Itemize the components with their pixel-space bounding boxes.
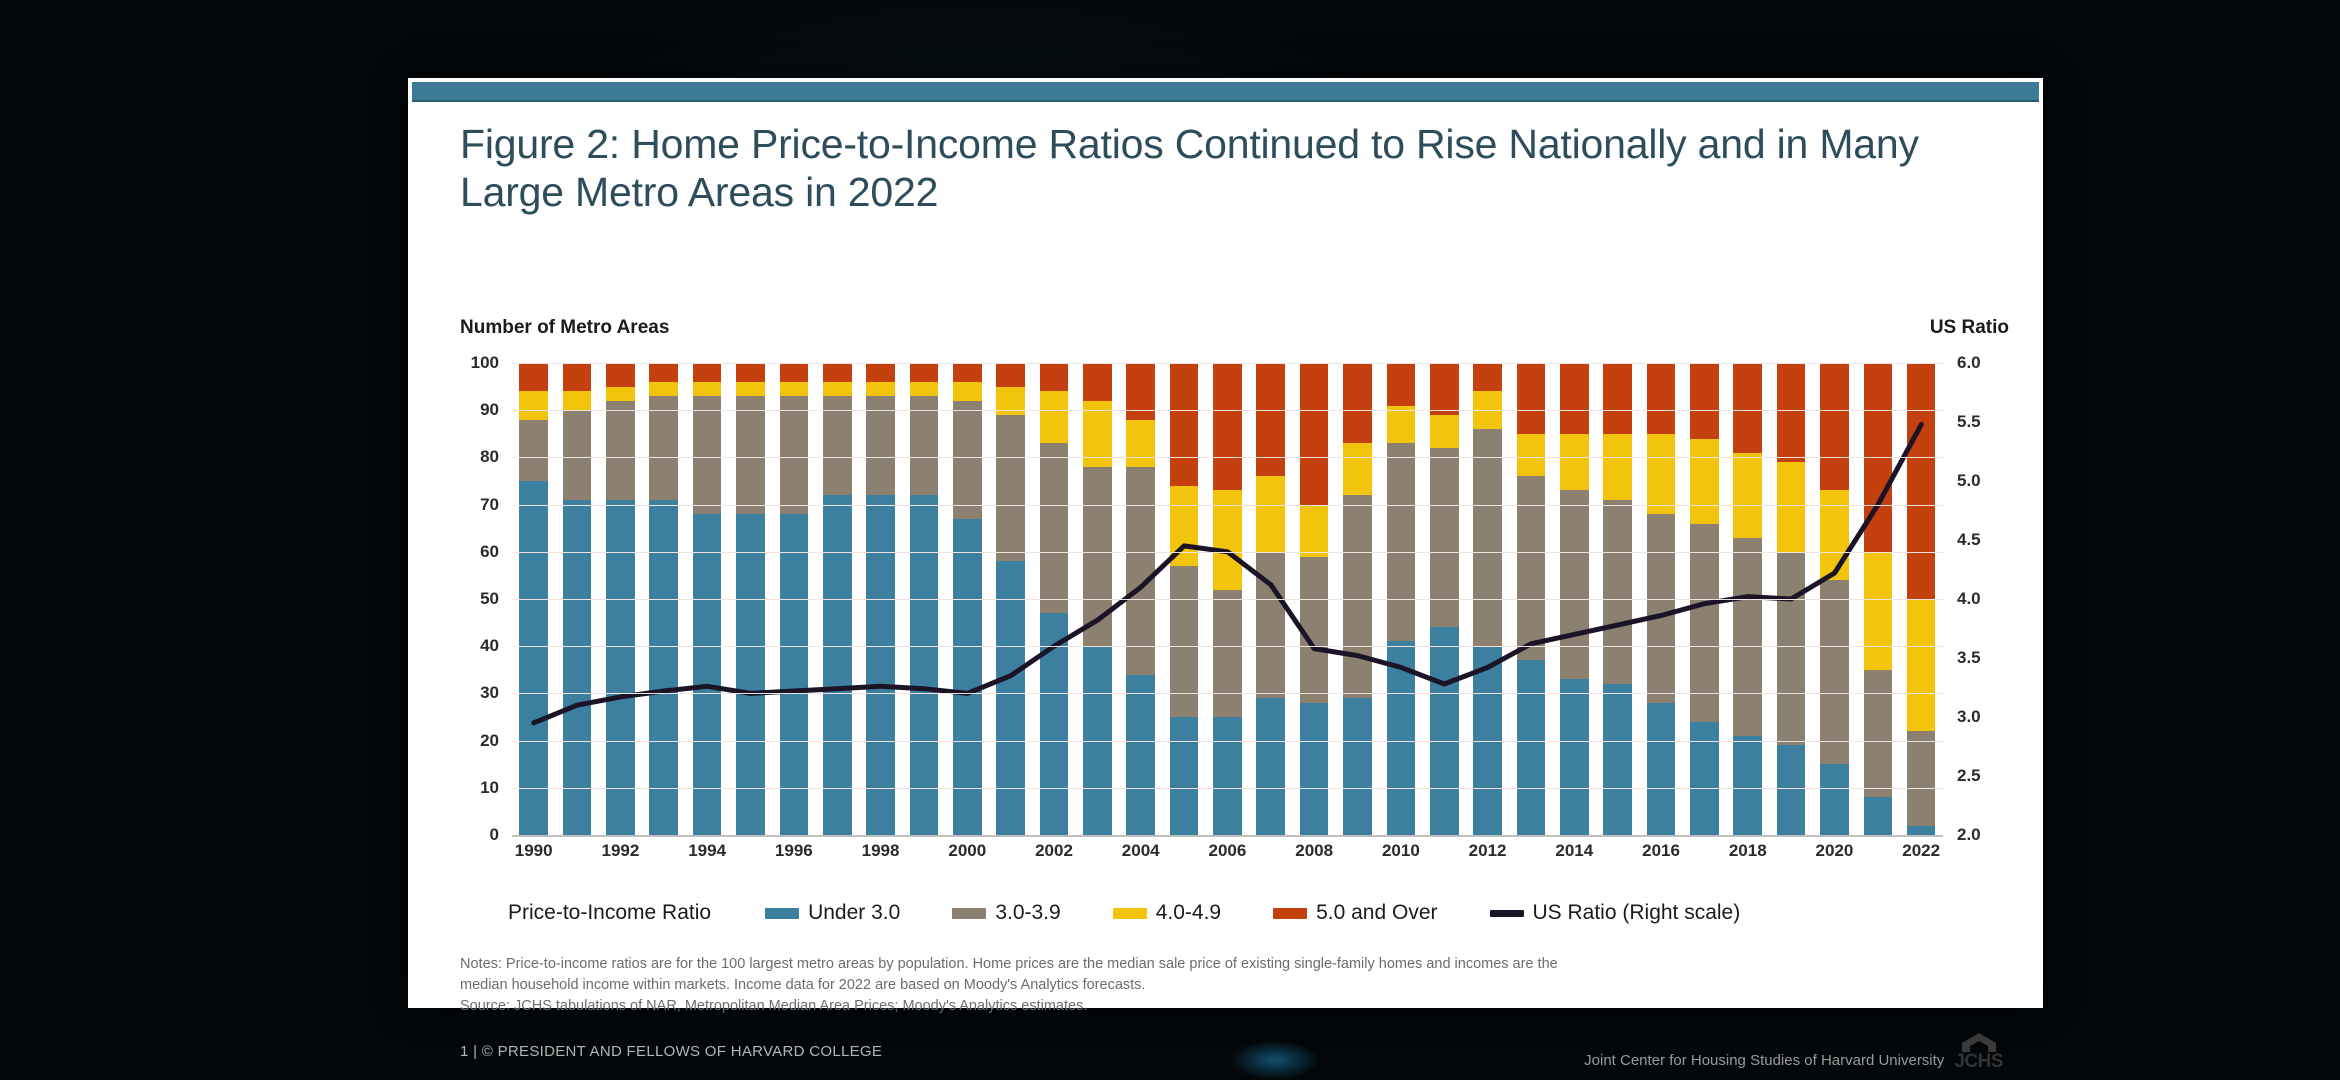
bar-segment-4-0-4-9 [1733,453,1762,538]
legend-title: Price-to-Income Ratio [508,901,711,925]
bar-segment-4-0-4-9 [1777,462,1806,552]
gridline [512,693,1943,694]
y-tick-left-30: 30 [456,683,508,703]
bar-segment-under-3-0 [1256,698,1285,835]
bar-segment-5-0-and-over [1300,363,1329,505]
x-tick-blank [1509,841,1552,871]
bar-segment-3-0-3-9 [1343,495,1372,698]
jchs-logo-icon: JCHS [1954,1032,2003,1071]
y-tick-right-3.0: 3.0 [1945,707,2001,727]
left-axis-title: Number of Metro Areas [460,317,669,339]
x-tick-blank [1683,841,1726,871]
bar-segment-5-0-and-over [823,363,852,382]
chart-legend: Price-to-Income Ratio Under 3.03.0-3.94.… [456,898,2003,928]
y-tick-right-4.5: 4.5 [1945,530,2001,550]
bar-segment-5-0-and-over [1083,363,1112,401]
bar-segment-5-0-and-over [1213,363,1242,490]
x-tick-2012: 2012 [1466,841,1509,871]
legend-color-swatch [952,908,986,919]
bar-segment-4-0-4-9 [780,382,809,396]
bar-segment-5-0-and-over [1473,363,1502,391]
legend-item-under-3-0[interactable]: Under 3.0 [765,901,900,925]
bar-segment-5-0-and-over [866,363,895,382]
bar-segment-3-0-3-9 [1430,448,1459,627]
x-tick-2000: 2000 [946,841,989,871]
bar-segment-under-3-0 [1603,684,1632,835]
gridline [512,552,1943,553]
x-tick-2014: 2014 [1553,841,1596,871]
bar-segment-5-0-and-over [1647,363,1676,434]
bar-segment-4-0-4-9 [1430,415,1459,448]
bar-segment-4-0-4-9 [693,382,722,396]
bar-segment-3-0-3-9 [693,396,722,514]
x-tick-blank [1249,841,1292,871]
bar-segment-4-0-4-9 [563,391,592,410]
bar-segment-5-0-and-over [996,363,1025,387]
x-tick-blank [1423,841,1466,871]
chart-plot-area: 0102030405060708090100 2.02.53.03.54.04.… [456,363,2001,873]
y-axis-left-ticks: 0102030405060708090100 [456,363,508,835]
x-tick-2018: 2018 [1726,841,1769,871]
bar-segment-3-0-3-9 [1473,429,1502,646]
legend-line-swatch [1490,910,1524,917]
bar-segment-3-0-3-9 [1907,731,1936,825]
y-tick-left-50: 50 [456,589,508,609]
gridline [512,410,1943,411]
bar-segment-5-0-and-over [519,363,548,391]
legend-label: 4.0-4.9 [1156,901,1221,925]
slide-footer: 1 | © PRESIDENT AND FELLOWS OF HARVARD C… [460,1033,2003,1069]
gridline [512,741,1943,742]
x-tick-2004: 2004 [1119,841,1162,871]
bar-segment-5-0-and-over [1517,363,1546,434]
bar-segment-3-0-3-9 [953,401,982,519]
x-tick-blank [1162,841,1205,871]
bar-segment-under-3-0 [866,495,895,835]
bar-segment-3-0-3-9 [1126,467,1155,675]
bar-segment-under-3-0 [1170,717,1199,835]
y-tick-right-6.0: 6.0 [1945,353,2001,373]
bar-segment-5-0-and-over [1430,363,1459,415]
gridline [512,599,1943,600]
bar-segment-4-0-4-9 [649,382,678,396]
right-axis-title: US Ratio [1930,317,2009,339]
bar-segment-4-0-4-9 [1343,443,1372,495]
footer-branding: Joint Center for Housing Studies of Harv… [1584,1032,2003,1071]
gridline [512,457,1943,458]
y-tick-left-60: 60 [456,542,508,562]
bar-segment-3-0-3-9 [1733,538,1762,736]
legend-item-4-0-4-9[interactable]: 4.0-4.9 [1113,901,1221,925]
bar-segment-3-0-3-9 [1387,443,1416,641]
bar-segment-4-0-4-9 [1864,552,1893,670]
bar-segment-under-3-0 [1430,627,1459,835]
bar-segment-5-0-and-over [1040,363,1069,391]
bar-segment-4-0-4-9 [736,382,765,396]
bar-segment-3-0-3-9 [649,396,678,500]
y-tick-left-10: 10 [456,778,508,798]
y-tick-right-2.5: 2.5 [1945,766,2001,786]
bar-segment-5-0-and-over [1256,363,1285,476]
bar-segment-under-3-0 [1126,675,1155,835]
legend-color-swatch [1113,908,1147,919]
bar-segment-3-0-3-9 [1864,670,1893,797]
y-tick-right-3.5: 3.5 [1945,648,2001,668]
x-tick-blank [989,841,1032,871]
bar-segment-4-0-4-9 [1647,434,1676,514]
gridline [512,363,1943,364]
bar-segment-4-0-4-9 [1603,434,1632,500]
gridline [512,788,1943,789]
x-tick-2006: 2006 [1206,841,1249,871]
y-tick-right-4.0: 4.0 [1945,589,2001,609]
bar-segment-5-0-and-over [1733,363,1762,453]
bar-segment-4-0-4-9 [1907,599,1936,731]
x-axis-labels: 1990199219941996199820002002200420062008… [512,841,1943,871]
bar-segment-4-0-4-9 [519,391,548,419]
legend-item-us-ratio-right-scale-[interactable]: US Ratio (Right scale) [1490,901,1741,925]
x-tick-blank [729,841,772,871]
y-tick-left-80: 80 [456,447,508,467]
legend-label: 5.0 and Over [1316,901,1437,925]
bar-segment-3-0-3-9 [1300,557,1329,703]
bar-segment-4-0-4-9 [1040,391,1069,443]
x-tick-2010: 2010 [1379,841,1422,871]
bar-segment-under-3-0 [649,500,678,835]
bar-segment-3-0-3-9 [1820,580,1849,764]
bar-segment-under-3-0 [1647,703,1676,835]
x-tick-blank [902,841,945,871]
x-tick-blank [1769,841,1812,871]
x-axis-line [512,835,1943,837]
x-tick-2016: 2016 [1639,841,1682,871]
gridline [512,505,1943,506]
x-tick-2022: 2022 [1900,841,1943,871]
y-tick-right-2.0: 2.0 [1945,825,2001,845]
bar-segment-3-0-3-9 [563,410,592,500]
bar-segment-4-0-4-9 [910,382,939,396]
bar-segment-3-0-3-9 [996,415,1025,561]
y-tick-right-5.0: 5.0 [1945,471,2001,491]
bar-segment-under-3-0 [519,481,548,835]
bar-segment-5-0-and-over [1343,363,1372,443]
legend-label: 3.0-3.9 [995,901,1060,925]
page-title: Figure 2: Home Price-to-Income Ratios Co… [460,120,2003,217]
bar-segment-3-0-3-9 [606,401,635,500]
x-tick-2002: 2002 [1032,841,1075,871]
presentation-slide: Figure 2: Home Price-to-Income Ratios Co… [408,78,2043,1008]
bar-segment-under-3-0 [1560,679,1589,835]
bar-segment-5-0-and-over [693,363,722,382]
x-tick-1992: 1992 [599,841,642,871]
legend-color-swatch [765,908,799,919]
bar-segment-4-0-4-9 [823,382,852,396]
legend-color-swatch [1273,908,1307,919]
y-tick-left-20: 20 [456,731,508,751]
bar-segment-under-3-0 [563,500,592,835]
bar-segment-5-0-and-over [1690,363,1719,439]
bar-segment-5-0-and-over [1603,363,1632,434]
bar-segment-3-0-3-9 [1560,490,1589,679]
y-axis-right-ticks: 2.02.53.03.54.04.55.05.56.0 [1945,363,2001,835]
chart-notes: Notes: Price-to-income ratios are for th… [460,954,1999,1017]
bar-segment-under-3-0 [1733,736,1762,835]
bar-segment-3-0-3-9 [1083,467,1112,646]
bar-segment-4-0-4-9 [1170,486,1199,566]
chart-canvas [512,363,1943,835]
x-tick-blank [1856,841,1899,871]
x-tick-blank [555,841,598,871]
x-tick-blank [1076,841,1119,871]
y-tick-left-40: 40 [456,636,508,656]
bar-segment-5-0-and-over [1560,363,1589,434]
bar-segment-under-3-0 [1517,660,1546,835]
bar-segment-3-0-3-9 [1777,552,1806,746]
bar-segment-under-3-0 [1820,764,1849,835]
bar-segment-under-3-0 [1864,797,1893,835]
bar-segment-3-0-3-9 [1040,443,1069,613]
legend-label: US Ratio (Right scale) [1533,901,1741,925]
bar-segment-3-0-3-9 [1256,552,1285,698]
bar-segment-4-0-4-9 [1126,420,1155,467]
bar-segment-5-0-and-over [1387,363,1416,405]
y-tick-left-100: 100 [456,353,508,373]
legend-item-5-0-and-over[interactable]: 5.0 and Over [1273,901,1437,925]
bar-segment-under-3-0 [910,495,939,835]
bar-segment-5-0-and-over [736,363,765,382]
bar-segment-under-3-0 [1387,641,1416,835]
gridline [512,646,1943,647]
bar-segment-5-0-and-over [1777,363,1806,462]
bar-segment-4-0-4-9 [1560,434,1589,491]
bar-segment-3-0-3-9 [780,396,809,514]
bar-segment-under-3-0 [1300,703,1329,835]
bar-segment-4-0-4-9 [953,382,982,401]
bar-segment-3-0-3-9 [1603,500,1632,684]
bar-segment-4-0-4-9 [1256,476,1285,552]
y-tick-right-5.5: 5.5 [1945,412,2001,432]
legend-label: Under 3.0 [808,901,900,925]
bar-segment-under-3-0 [1777,745,1806,835]
x-tick-2020: 2020 [1813,841,1856,871]
notes-line-1: Notes: Price-to-income ratios are for th… [460,954,1999,975]
bar-segment-5-0-and-over [1170,363,1199,486]
notes-line-2: median household income within markets. … [460,975,1999,996]
bar-segment-3-0-3-9 [1690,524,1719,722]
bar-segment-3-0-3-9 [1213,590,1242,717]
x-tick-1998: 1998 [859,841,902,871]
bar-segment-under-3-0 [1690,722,1719,835]
bar-segment-4-0-4-9 [1300,505,1329,557]
bar-segment-under-3-0 [1213,717,1242,835]
bar-segment-under-3-0 [996,561,1025,835]
bar-segment-5-0-and-over [563,363,592,391]
bar-segment-under-3-0 [823,495,852,835]
x-tick-1990: 1990 [512,841,555,871]
x-tick-blank [816,841,859,871]
bar-segment-5-0-and-over [649,363,678,382]
legend-item-3-0-3-9[interactable]: 3.0-3.9 [952,901,1060,925]
bar-segment-under-3-0 [1907,826,1936,835]
slide-accent-bar [412,82,2039,102]
bar-segment-3-0-3-9 [1647,514,1676,703]
bar-segment-5-0-and-over [1820,363,1849,490]
bar-segment-5-0-and-over [910,363,939,382]
bar-segment-3-0-3-9 [736,396,765,514]
bar-segment-4-0-4-9 [1517,434,1546,476]
x-tick-1994: 1994 [685,841,728,871]
bar-segment-5-0-and-over [1907,363,1936,599]
bar-segment-under-3-0 [606,500,635,835]
bar-segment-4-0-4-9 [606,387,635,401]
footer-organization: Joint Center for Housing Studies of Harv… [1584,1052,1944,1069]
jchs-wordmark: JCHS [1954,1052,2003,1071]
y-tick-left-70: 70 [456,495,508,515]
bar-segment-4-0-4-9 [866,382,895,396]
notes-source-line: Source: JCHS tabulations of NAR, Metropo… [460,996,1999,1017]
bar-segment-3-0-3-9 [519,420,548,481]
x-tick-2008: 2008 [1292,841,1335,871]
bar-segment-5-0-and-over [606,363,635,387]
x-tick-blank [1596,841,1639,871]
y-tick-left-0: 0 [456,825,508,845]
bar-segment-4-0-4-9 [1690,439,1719,524]
bar-segment-5-0-and-over [780,363,809,382]
bar-segment-5-0-and-over [953,363,982,382]
bar-segment-under-3-0 [1343,698,1372,835]
x-tick-blank [642,841,685,871]
y-tick-left-90: 90 [456,400,508,420]
x-tick-1996: 1996 [772,841,815,871]
x-tick-blank [1336,841,1379,871]
footer-copyright: 1 | © PRESIDENT AND FELLOWS OF HARVARD C… [460,1043,882,1060]
